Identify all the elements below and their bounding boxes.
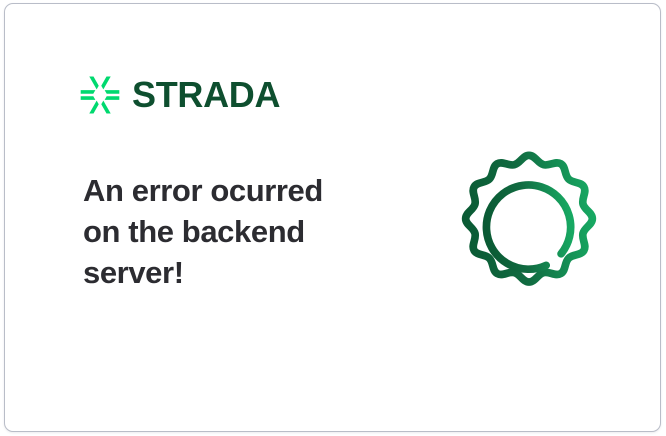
brand-logo: STRADA: [79, 74, 280, 116]
strada-asterisk-icon: [79, 74, 121, 116]
error-message: An error ocurred on the backend server!: [83, 170, 363, 294]
error-card: STRADA An error ocurred on the backend s…: [4, 3, 661, 432]
gear-icon: [448, 142, 610, 308]
brand-wordmark: STRADA: [132, 77, 280, 113]
